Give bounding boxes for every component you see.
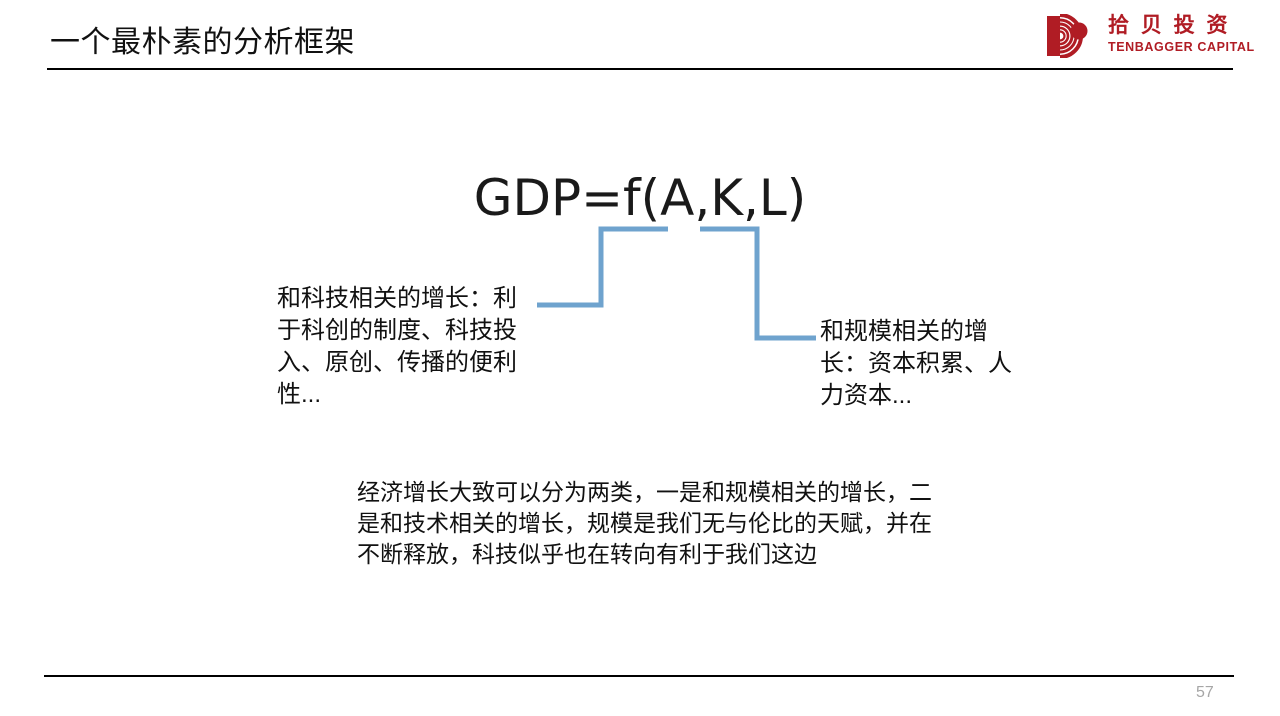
connector-left xyxy=(537,229,668,305)
connector-right xyxy=(700,229,816,338)
callout-technology-growth: 和科技相关的增长：利于科创的制度、科技投入、原创、传播的便利性... xyxy=(277,283,539,411)
logo-chinese-name: 拾 贝 投 资 xyxy=(1108,12,1238,39)
footer-divider xyxy=(44,675,1234,677)
callout-scale-growth: 和规模相关的增长：资本积累、人力资本... xyxy=(820,316,1030,412)
logo-wordmark: 拾 贝 投 资 TENBAGGER CAPITAL xyxy=(1108,12,1238,60)
slide-canvas: 一个最朴素的分析框架 拾 贝 投 资 TENBAGGER CAPITAL xyxy=(0,0,1280,716)
connector-lines xyxy=(0,0,1280,716)
tenbagger-shell-logo-icon xyxy=(1046,14,1104,58)
title-divider xyxy=(47,68,1233,70)
gdp-formula: GDP=f(A,K,L) xyxy=(0,168,1280,228)
summary-paragraph: 经济增长大致可以分为两类，一是和规模相关的增长，二是和技术相关的增长，规模是我们… xyxy=(357,477,932,570)
page-number: 57 xyxy=(1196,683,1236,703)
logo-english-name: TENBAGGER CAPITAL xyxy=(1108,39,1238,55)
page-title: 一个最朴素的分析框架 xyxy=(50,24,355,62)
brand-logo: 拾 贝 投 资 TENBAGGER CAPITAL xyxy=(1046,12,1238,62)
